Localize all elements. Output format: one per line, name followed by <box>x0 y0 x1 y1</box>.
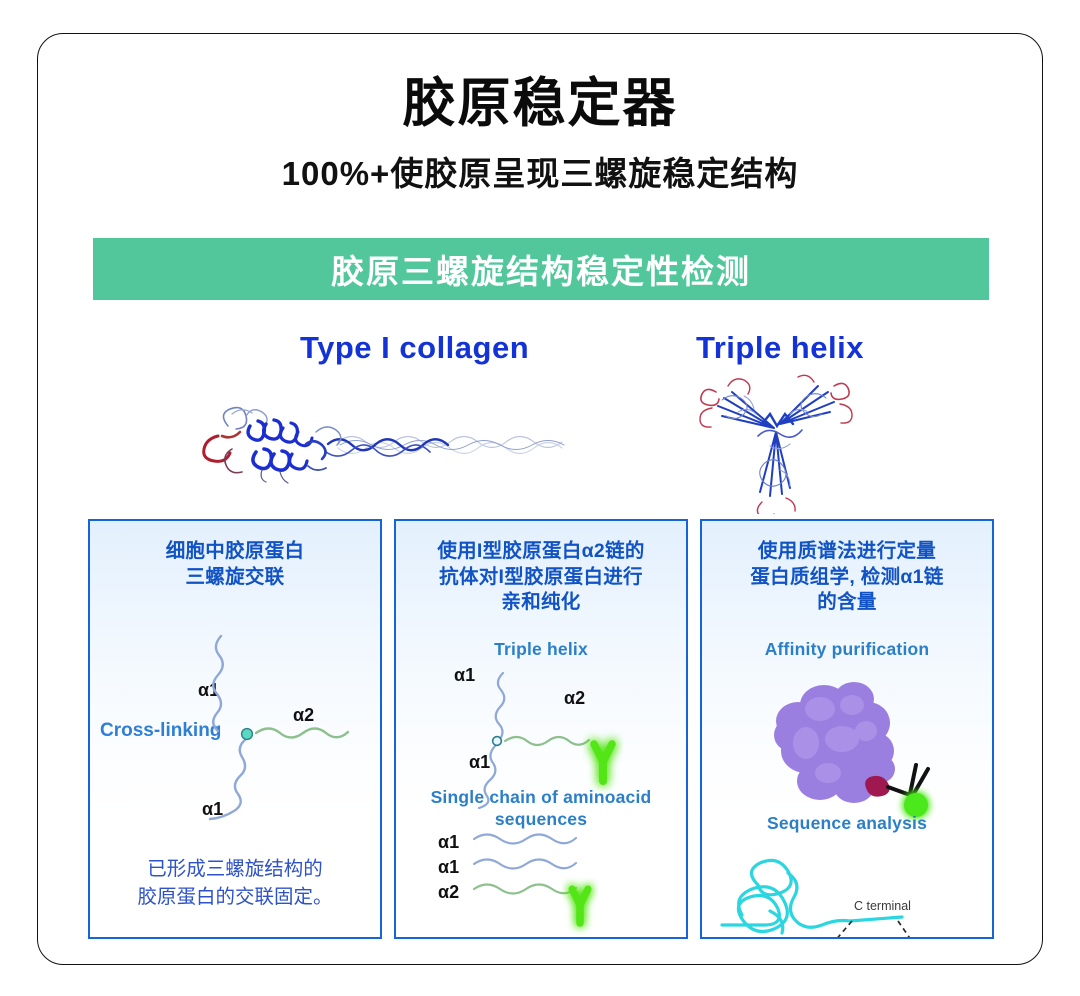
infographic-poster: 胶原稳定器 100%+使胶原呈现三螺旋稳定结构 胶原三螺旋结构稳定性检测 Typ… <box>37 33 1043 965</box>
affinity-purification-heading: Affinity purification <box>702 639 992 660</box>
protein-antibody-diagram <box>702 665 992 825</box>
panel-affinity-purification: 使用I型胶原蛋白α2链的 抗体对I型胶原蛋白进行 亲和纯化 Triple hel… <box>394 519 688 939</box>
panel-2-art: Triple helix α1 α1 α2 <box>396 617 686 937</box>
structure-label-triple-helix: Triple helix <box>696 330 864 366</box>
cross-linking-diagram <box>90 617 380 847</box>
structure-label-collagen: Type I collagen <box>300 330 529 366</box>
panel-cross-linking: 细胞中胶原蛋白 三螺旋交联 Cross-linking α1 α1 α2 <box>88 519 382 939</box>
panel-3-title: 使用质谱法进行定量 蛋白质组学, 检测α1链 的含量 <box>716 539 978 616</box>
page-title: 胶原稳定器 <box>38 76 1042 132</box>
sequence-analysis-diagram <box>702 839 992 939</box>
sequences-heading: Single chain of aminoacid sequences <box>396 787 686 831</box>
single-chain-sequences <box>396 827 686 937</box>
triple-helix-icon <box>688 362 863 514</box>
collagen-ribbon-icon <box>188 374 618 514</box>
panel-2-title: 使用I型胶原蛋白α2链的 抗体对I型胶原蛋白进行 亲和纯化 <box>410 539 672 616</box>
panel-3-art: Affinity purification <box>702 617 992 937</box>
section-banner-label: 胶原三螺旋结构稳定性检测 <box>331 245 751 293</box>
panel-1-title: 细胞中胶原蛋白 三螺旋交联 <box>104 539 366 590</box>
antibody-glyph <box>594 744 612 781</box>
section-banner: 胶原三螺旋结构稳定性检测 <box>93 238 989 300</box>
page-subtitle: 100%+使胶原呈现三螺旋稳定结构 <box>38 147 1042 195</box>
panel-mass-spectrometry: 使用质谱法进行定量 蛋白质组学, 检测α1链 的含量 Affinity puri… <box>700 519 994 939</box>
c-terminal-label: C terminal <box>854 899 911 913</box>
panel-1-caption: 已形成三螺旋结构的 胶原蛋白的交联固定。 <box>102 856 368 911</box>
sequence-analysis-heading: Sequence analysis <box>702 813 992 834</box>
panel-row: 细胞中胶原蛋白 三螺旋交联 Cross-linking α1 α1 α2 <box>88 519 994 939</box>
antibody-glyph-sequences <box>572 889 588 923</box>
